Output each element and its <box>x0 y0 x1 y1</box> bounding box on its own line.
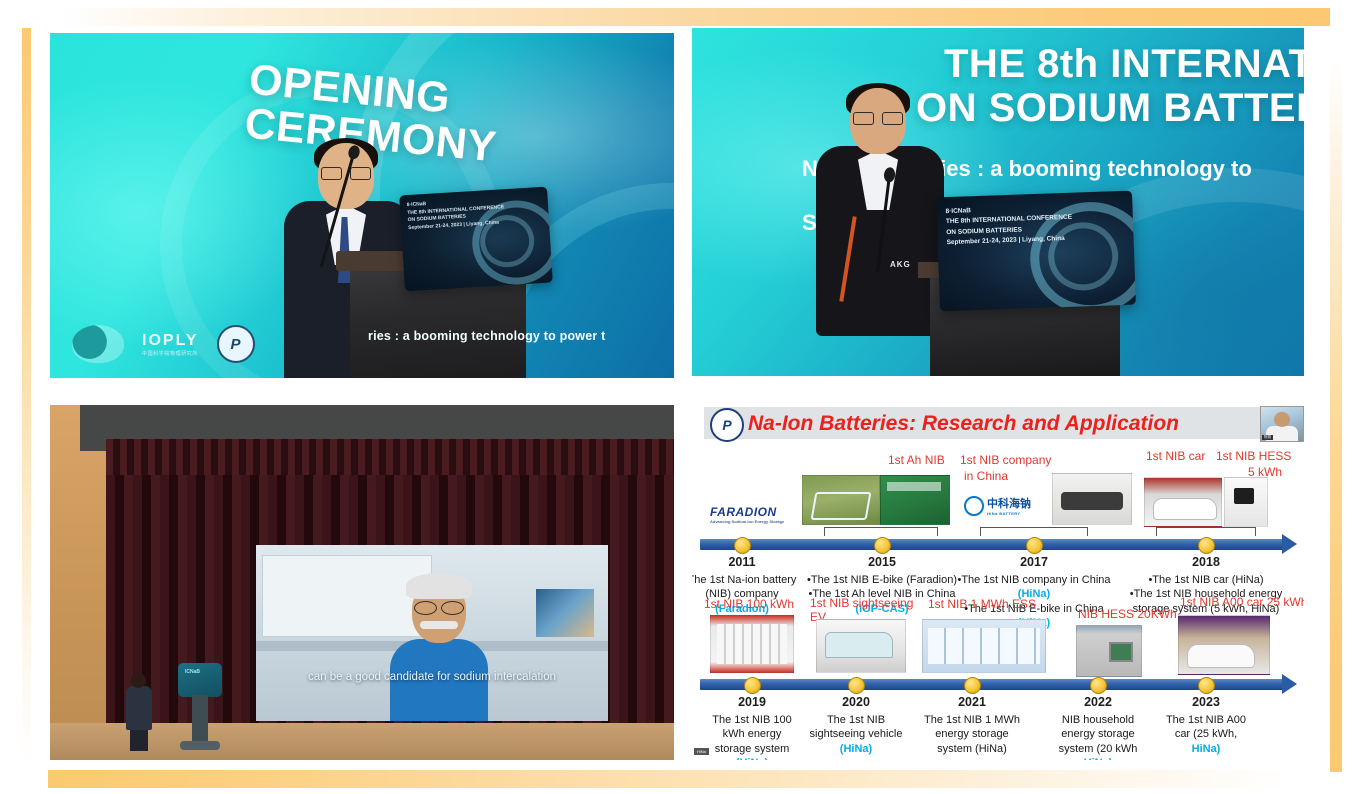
mic-brand-label: AKG <box>890 260 911 269</box>
photo-hess-20kwh <box>1076 625 1142 677</box>
top-accent-bar <box>60 8 1330 26</box>
group-bracket <box>980 527 1088 536</box>
right-accent-bar <box>1330 60 1342 772</box>
sponsor-logo-row: IOPLY 中国科学院物理研究所 P <box>72 325 255 363</box>
timeline-year-2021: 2021 <box>958 695 986 709</box>
timeline-node <box>848 677 865 694</box>
timeline-year-2022: 2022 <box>1084 695 1112 709</box>
caption-1st-ah-nib: 1st Ah NIB <box>888 453 945 467</box>
axis-arrow-icon <box>1282 534 1297 554</box>
institute-seal-icon: P <box>710 408 744 442</box>
iop-logo: IOPLY 中国科学院物理研究所 <box>142 332 199 357</box>
curtain-valance <box>106 439 674 475</box>
podium-branding-panel: 8·ICNaB THE 8th INTERNATIONAL CONFERENCE… <box>399 187 553 292</box>
photo-1mwh-ess <box>922 619 1046 673</box>
hina-battery-logo: 中科海钠 HiNa BATTERY <box>964 495 1031 516</box>
wall-picture <box>536 589 594 637</box>
caption-2023: 1st NIB A00 car 25 kWh <box>1180 595 1304 609</box>
photo-100kwh-ess <box>710 615 794 673</box>
panel-line3: September 21-24, 2023 | Liyang, China <box>947 235 1065 246</box>
panel-line2: ON SODIUM BATTERIES <box>946 226 1022 236</box>
timeline-year-2018: 2018 <box>1192 555 1220 569</box>
group-bracket <box>824 527 938 536</box>
iop-logo-subtext: 中国科学院物理研究所 <box>142 350 199 357</box>
podium-branding-panel: 8·ICNaB THE 8th INTERNATIONAL CONFERENCE… <box>936 191 1136 312</box>
timeline-desc-2019: The 1st NIB 100 kWh energy storage syste… <box>700 713 804 760</box>
timeline-year-2019: 2019 <box>738 695 766 709</box>
photo-ah-nib-cell <box>880 475 950 525</box>
keynote-speaker-photo: THE 8th INTERNATION ON SODIUM BATTERIE N… <box>692 28 1304 376</box>
hina-mark-icon <box>964 496 984 516</box>
timeline-node <box>734 537 751 554</box>
timeline-year-2011: 2011 <box>728 555 755 569</box>
timeline-year-2020: 2020 <box>842 695 870 709</box>
screen-subtitle: ries : a booming technology to power t <box>368 329 674 343</box>
caption-2019: 1st NIB 100 kWh <box>704 597 794 611</box>
panel-brand: 8·ICNaB <box>407 201 427 208</box>
stage-lectern: ICNaB <box>178 663 222 751</box>
timeline-desc-2023: The 1st NIB A00 car (25 kWh, HiNa) <box>1152 713 1260 756</box>
slide-title: Na-Ion Batteries: Research and Applicati… <box>748 412 1179 436</box>
left-accent-bar <box>22 28 31 768</box>
screen-line-2: ON SODIUM BATTERIE <box>916 86 1304 131</box>
timeline-node <box>1198 677 1215 694</box>
timeline-node <box>1026 537 1043 554</box>
remote-talk-auditorium-photo: can be a good candidate for sodium inter… <box>50 405 674 760</box>
photo-a00-car <box>1178 615 1270 675</box>
photo-nib-hess <box>1224 477 1268 527</box>
panel-line1: THE 8th INTERNATIONAL CONFERENCE <box>946 214 1072 225</box>
moon-logo-icon <box>72 325 124 363</box>
timeline-desc-2022: NIB household energy storage system (20 … <box>1043 713 1153 760</box>
slide-watermark: HiNa <box>694 748 709 755</box>
caption-2022: NIB HESS 20KWh <box>1078 607 1177 621</box>
caption-1st-nib-company: 1st NIB company <box>960 453 1051 467</box>
timeline-year-2017: 2017 <box>1020 555 1048 569</box>
timeline-node <box>1198 537 1215 554</box>
remote-presenter-figure <box>394 573 484 721</box>
timeline-slide: P Na-Ion Batteries: Research and Applica… <box>692 405 1304 760</box>
group-bracket <box>1156 527 1256 536</box>
timeline-node <box>874 537 891 554</box>
bottom-accent-bar <box>48 770 1288 788</box>
timeline-node <box>744 677 761 694</box>
timeline-node <box>1090 677 1107 694</box>
photo-sightseeing-ev <box>816 619 906 673</box>
timeline-row-1: FARADION Advancing Sodium-ion Energy Sto… <box>692 443 1304 615</box>
photo-nib-ebike <box>802 475 880 525</box>
timeline-row-2: 1st NIB 100 kWh 1st NIB sightseeing EV 1… <box>692 593 1304 758</box>
faradion-logo: FARADION Advancing Sodium-ion Energy Sto… <box>710 505 784 524</box>
institute-seal-icon: P <box>217 325 255 363</box>
webcam-thumbnail: 陈丽 <box>1260 406 1304 442</box>
timeline-node <box>964 677 981 694</box>
panel-brand: 8·ICNaB <box>945 207 971 215</box>
timeline-desc-2021: The 1st NIB 1 MWh energy storage system … <box>913 713 1031 756</box>
photo-nib-etrike <box>1052 473 1132 525</box>
caption-2021: 1st NIB 1 MWh ESS <box>928 597 1036 611</box>
axis-arrow-icon <box>1282 674 1297 694</box>
caption-1st-nib-car: 1st NIB car <box>1146 449 1205 463</box>
projection-screen: can be a good candidate for sodium inter… <box>256 545 608 721</box>
caption-in-china: in China <box>964 469 1008 483</box>
host-figure <box>126 673 152 751</box>
webcam-name-tag: 陈丽 <box>1262 435 1273 440</box>
timeline-year-2015: 2015 <box>868 555 896 569</box>
screen-line-1: THE 8th INTERNATION <box>944 42 1304 87</box>
timeline-year-2023: 2023 <box>1192 695 1220 709</box>
timeline-desc-2020: The 1st NIB sightseeing vehicle (HiNa) <box>800 713 912 756</box>
caption-1st-nib-hess: 1st NIB HESS <box>1216 449 1291 463</box>
video-caption: can be a good candidate for sodium inter… <box>256 671 608 683</box>
lectern-logo: ICNaB <box>185 669 200 675</box>
photo-nib-car <box>1144 477 1222 527</box>
opening-ceremony-photo: OPENING CEREMONY 8·ICNaB THE 8th INTERNA… <box>50 33 674 378</box>
